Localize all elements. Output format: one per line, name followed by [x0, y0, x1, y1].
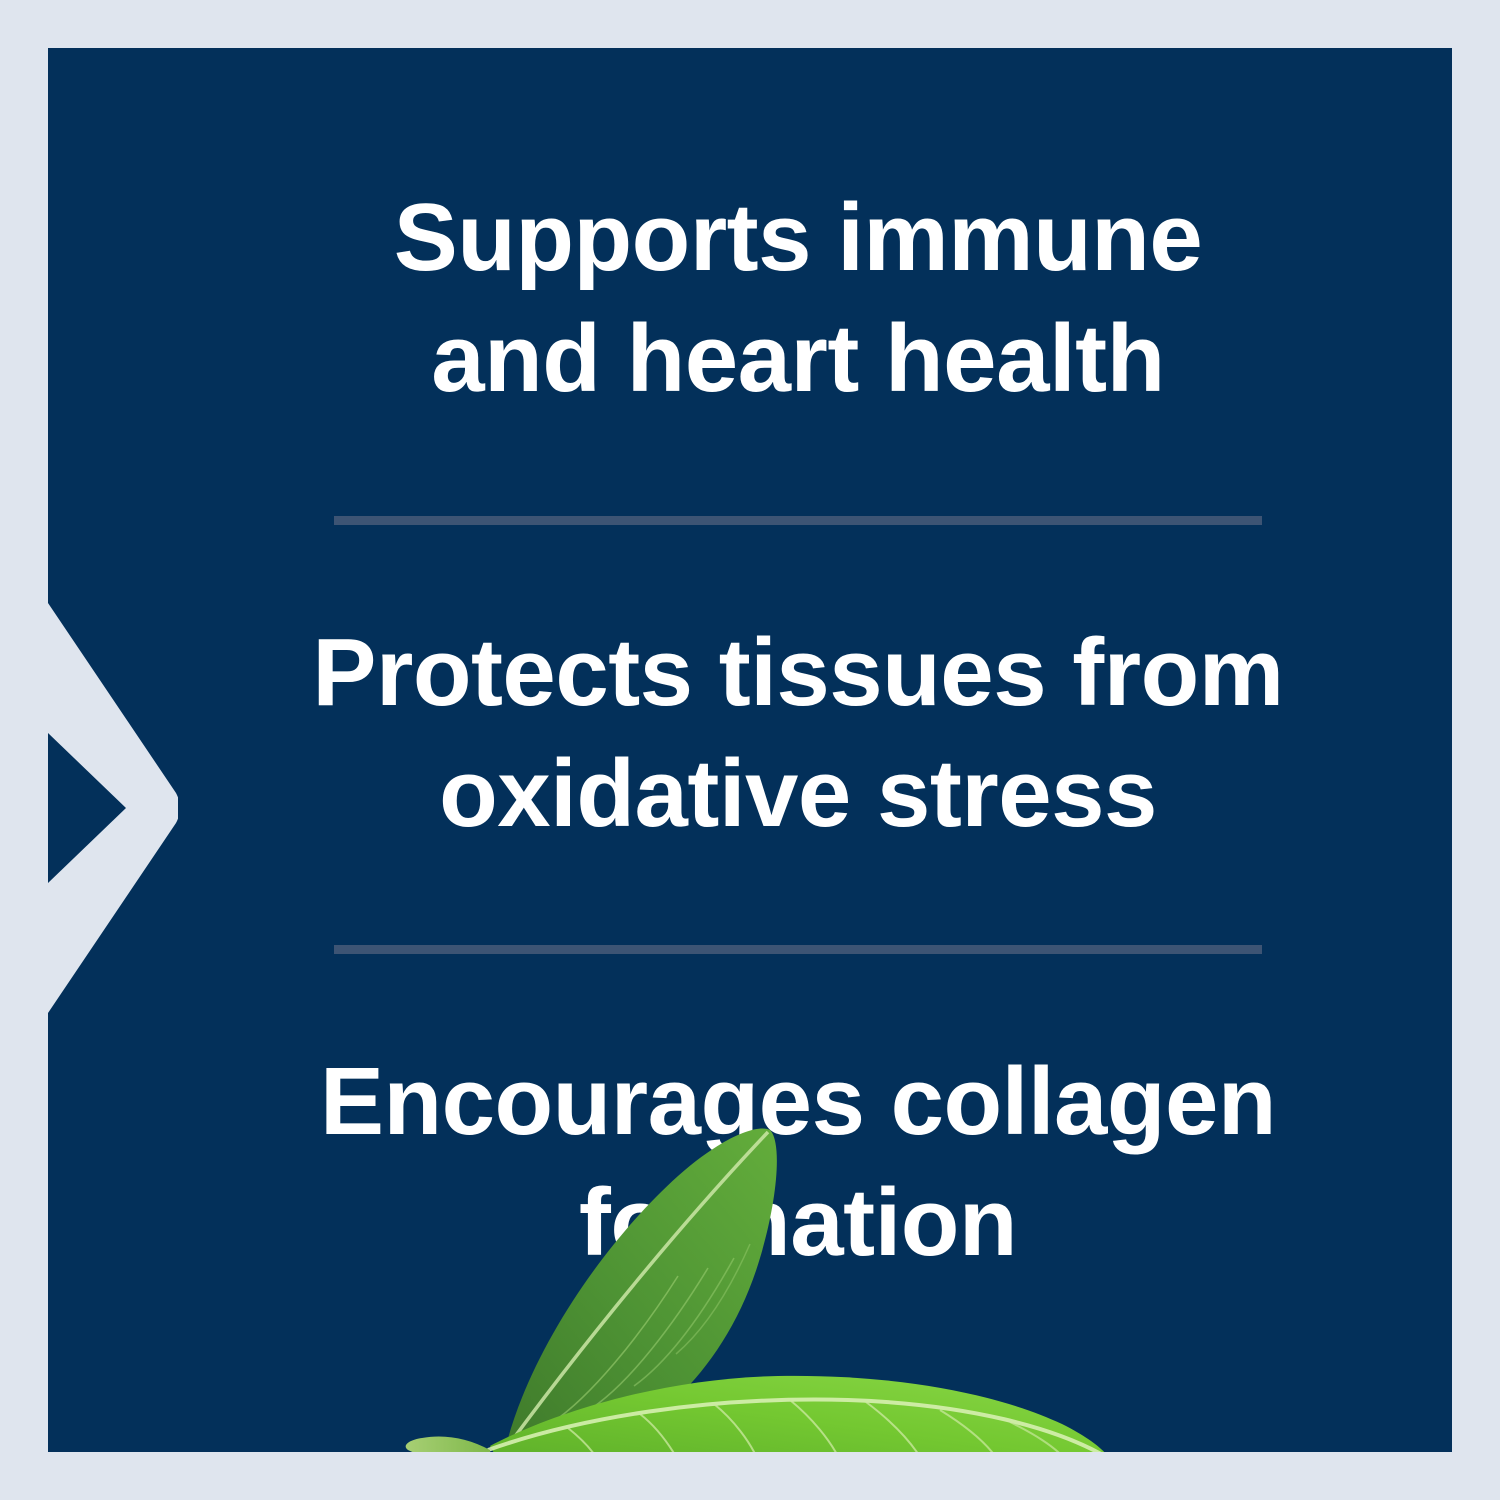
benefit-text-line-1: Protects tissues from — [178, 613, 1418, 734]
benefit-text-line-2: oxidative stress — [178, 734, 1418, 855]
benefit-text-line-1: Encourages collagen — [178, 1042, 1418, 1163]
benefits-content: Supports immune and heart health Protect… — [96, 48, 1452, 1452]
promo-graphic: Supports immune and heart health Protect… — [0, 0, 1500, 1500]
benefits-panel: Supports immune and heart health Protect… — [48, 48, 1452, 1452]
benefit-item-immune-heart: Supports immune and heart health — [178, 178, 1418, 420]
benefit-item-collagen: Encourages collagen formation — [178, 1042, 1418, 1284]
benefit-text-line-1: Supports immune — [178, 178, 1418, 299]
benefit-text-line-2: formation — [178, 1163, 1418, 1284]
benefit-divider-2 — [334, 945, 1262, 954]
benefit-divider-1 — [334, 516, 1262, 525]
benefit-item-oxidative-stress: Protects tissues from oxidative stress — [178, 613, 1418, 855]
benefit-text-line-2: and heart health — [178, 299, 1418, 420]
